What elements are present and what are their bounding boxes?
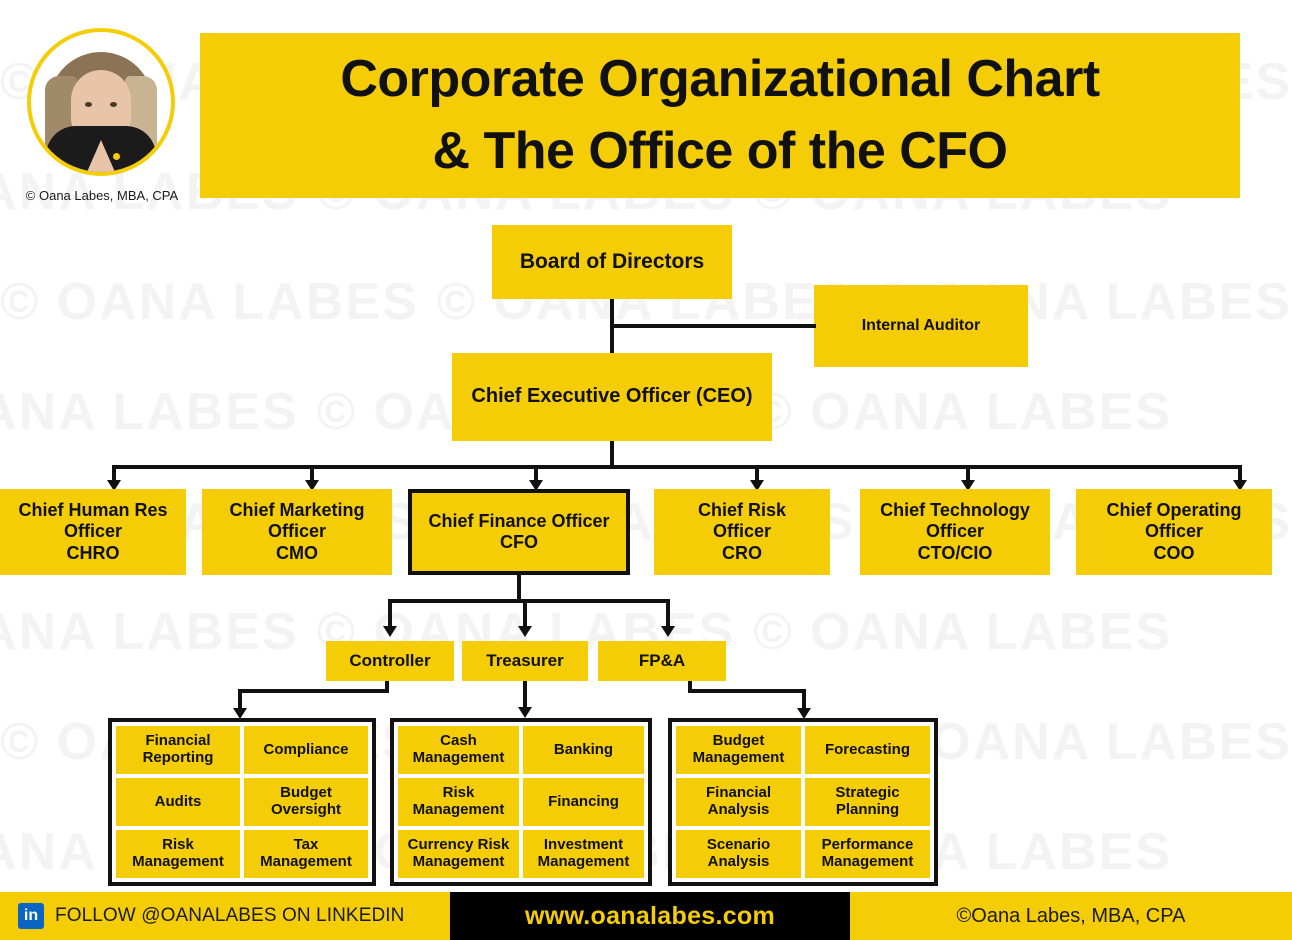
cell-treasurer-2[interactable]: Risk Management [398,778,519,826]
page-header: © Oana Labes, MBA, CPA Corporate Organiz… [0,0,1292,215]
cell-treasurer-0[interactable]: Cash Management [398,726,519,774]
connector-cfo-bus [388,599,670,603]
footer-website-section[interactable]: www.oanalabes.com [450,892,850,940]
cell-fpa-2[interactable]: Financial Analysis [676,778,801,826]
cell-controller-2[interactable]: Audits [116,778,240,826]
connector-drop-treasurer [523,599,527,628]
node-fpa[interactable]: FP&A [598,641,726,681]
page-title-line-1: Corporate Organizational Chart [340,44,1099,116]
cell-controller-3[interactable]: Budget Oversight [244,778,368,826]
cell-controller-5[interactable]: Tax Management [244,830,368,878]
node-cfo[interactable]: Chief Finance Officer CFO [408,489,630,575]
arrow-treasurer-group [518,707,532,718]
avatar-caption: © Oana Labes, MBA, CPA [18,188,186,203]
connector-treasurer-down [523,681,527,709]
avatar [27,28,175,176]
connector-csuite-bus [112,465,1242,469]
node-internal-auditor[interactable]: Internal Auditor [814,285,1028,367]
node-coo[interactable]: Chief Operating Officer COO [1076,489,1272,575]
portrait-eye-left [85,102,92,107]
group-panel-controller: Financial Reporting Compliance Audits Bu… [108,718,376,886]
cell-treasurer-3[interactable]: Financing [523,778,644,826]
cell-fpa-1[interactable]: Forecasting [805,726,930,774]
node-treasurer[interactable]: Treasurer [462,641,588,681]
linkedin-icon[interactable]: in [18,903,44,929]
arrow-controller [383,626,397,637]
cell-controller-1[interactable]: Compliance [244,726,368,774]
cell-controller-4[interactable]: Risk Management [116,830,240,878]
node-ceo[interactable]: Chief Executive Officer (CEO) [452,353,772,441]
node-cto-cio[interactable]: Chief Technology Officer CTO/CIO [860,489,1050,575]
connector-fpa-elbow [688,689,806,693]
connector-board-to-auditor [610,324,816,328]
arrow-fpa [661,626,675,637]
cell-treasurer-4[interactable]: Currency Risk Management [398,830,519,878]
node-controller[interactable]: Controller [326,641,454,681]
portrait-eye-right [110,102,117,107]
footer-follow-text: FOLLOW @OANALABES ON LINKEDIN [55,905,405,927]
connector-drop-fpa [666,599,670,628]
arrow-treasurer [518,626,532,637]
cell-treasurer-1[interactable]: Banking [523,726,644,774]
avatar-ring [27,28,175,176]
page-footer: in FOLLOW @OANALABES ON LINKEDIN www.oan… [0,892,1292,940]
footer-website-url[interactable]: www.oanalabes.com [525,902,775,931]
cell-fpa-5[interactable]: Performance Management [805,830,930,878]
footer-copyright-section: ©Oana Labes, MBA, CPA [850,892,1292,940]
node-cro[interactable]: Chief Risk Officer CRO [654,489,830,575]
connector-controller-elbow [238,689,389,693]
portrait-lapel-pin [113,153,120,160]
cell-fpa-4[interactable]: Scenario Analysis [676,830,801,878]
cell-treasurer-5[interactable]: Investment Management [523,830,644,878]
cell-fpa-3[interactable]: Strategic Planning [805,778,930,826]
group-panel-fpa: Budget Management Forecasting Financial … [668,718,938,886]
cell-fpa-0[interactable]: Budget Management [676,726,801,774]
title-banner: Corporate Organizational Chart & The Off… [200,33,1240,198]
footer-linkedin-section[interactable]: in FOLLOW @OANALABES ON LINKEDIN [0,892,450,940]
connector-drop-controller [388,599,392,628]
page-title-line-2: & The Office of the CFO [433,116,1008,188]
cell-controller-0[interactable]: Financial Reporting [116,726,240,774]
node-chro[interactable]: Chief Human Res Officer CHRO [0,489,186,575]
node-board-of-directors[interactable]: Board of Directors [492,225,732,299]
group-panel-treasurer: Cash Management Banking Risk Management … [390,718,652,886]
portrait-collar [87,140,115,172]
node-cmo[interactable]: Chief Marketing Officer CMO [202,489,392,575]
footer-copyright-text: ©Oana Labes, MBA, CPA [957,905,1186,928]
